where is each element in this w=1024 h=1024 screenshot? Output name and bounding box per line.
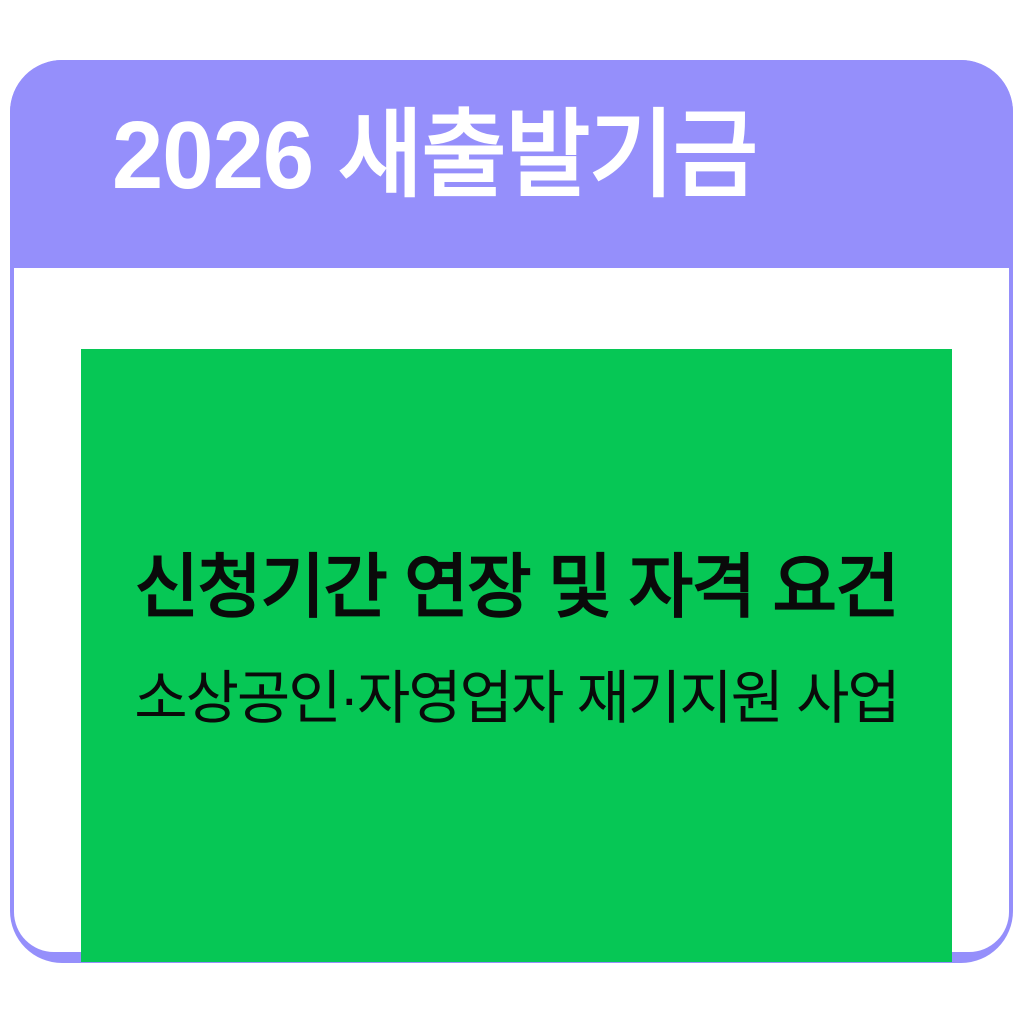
main-heading: 신청기간 연장 및 자격 요건 [81, 551, 952, 625]
poster-card: 2026 새출발기금 신청기간 연장 및 자격 요건 소상공인·자영업자 재기지… [10, 60, 1013, 963]
inner-white-panel: 신청기간 연장 및 자격 요건 소상공인·자영업자 재기지원 사업 [14, 268, 1009, 952]
poster-header-title: 2026 새출발기금 [112, 108, 757, 204]
sub-heading: 소상공인·자영업자 재기지원 사업 [81, 669, 952, 730]
header-band: 2026 새출발기금 [10, 60, 1013, 268]
green-block-text-group: 신청기간 연장 및 자격 요건 소상공인·자영업자 재기지원 사업 [81, 551, 952, 729]
poster-root: 2026 새출발기금 신청기간 연장 및 자격 요건 소상공인·자영업자 재기지… [0, 0, 1024, 1024]
green-content-block: 신청기간 연장 및 자격 요건 소상공인·자영업자 재기지원 사업 [81, 349, 952, 962]
